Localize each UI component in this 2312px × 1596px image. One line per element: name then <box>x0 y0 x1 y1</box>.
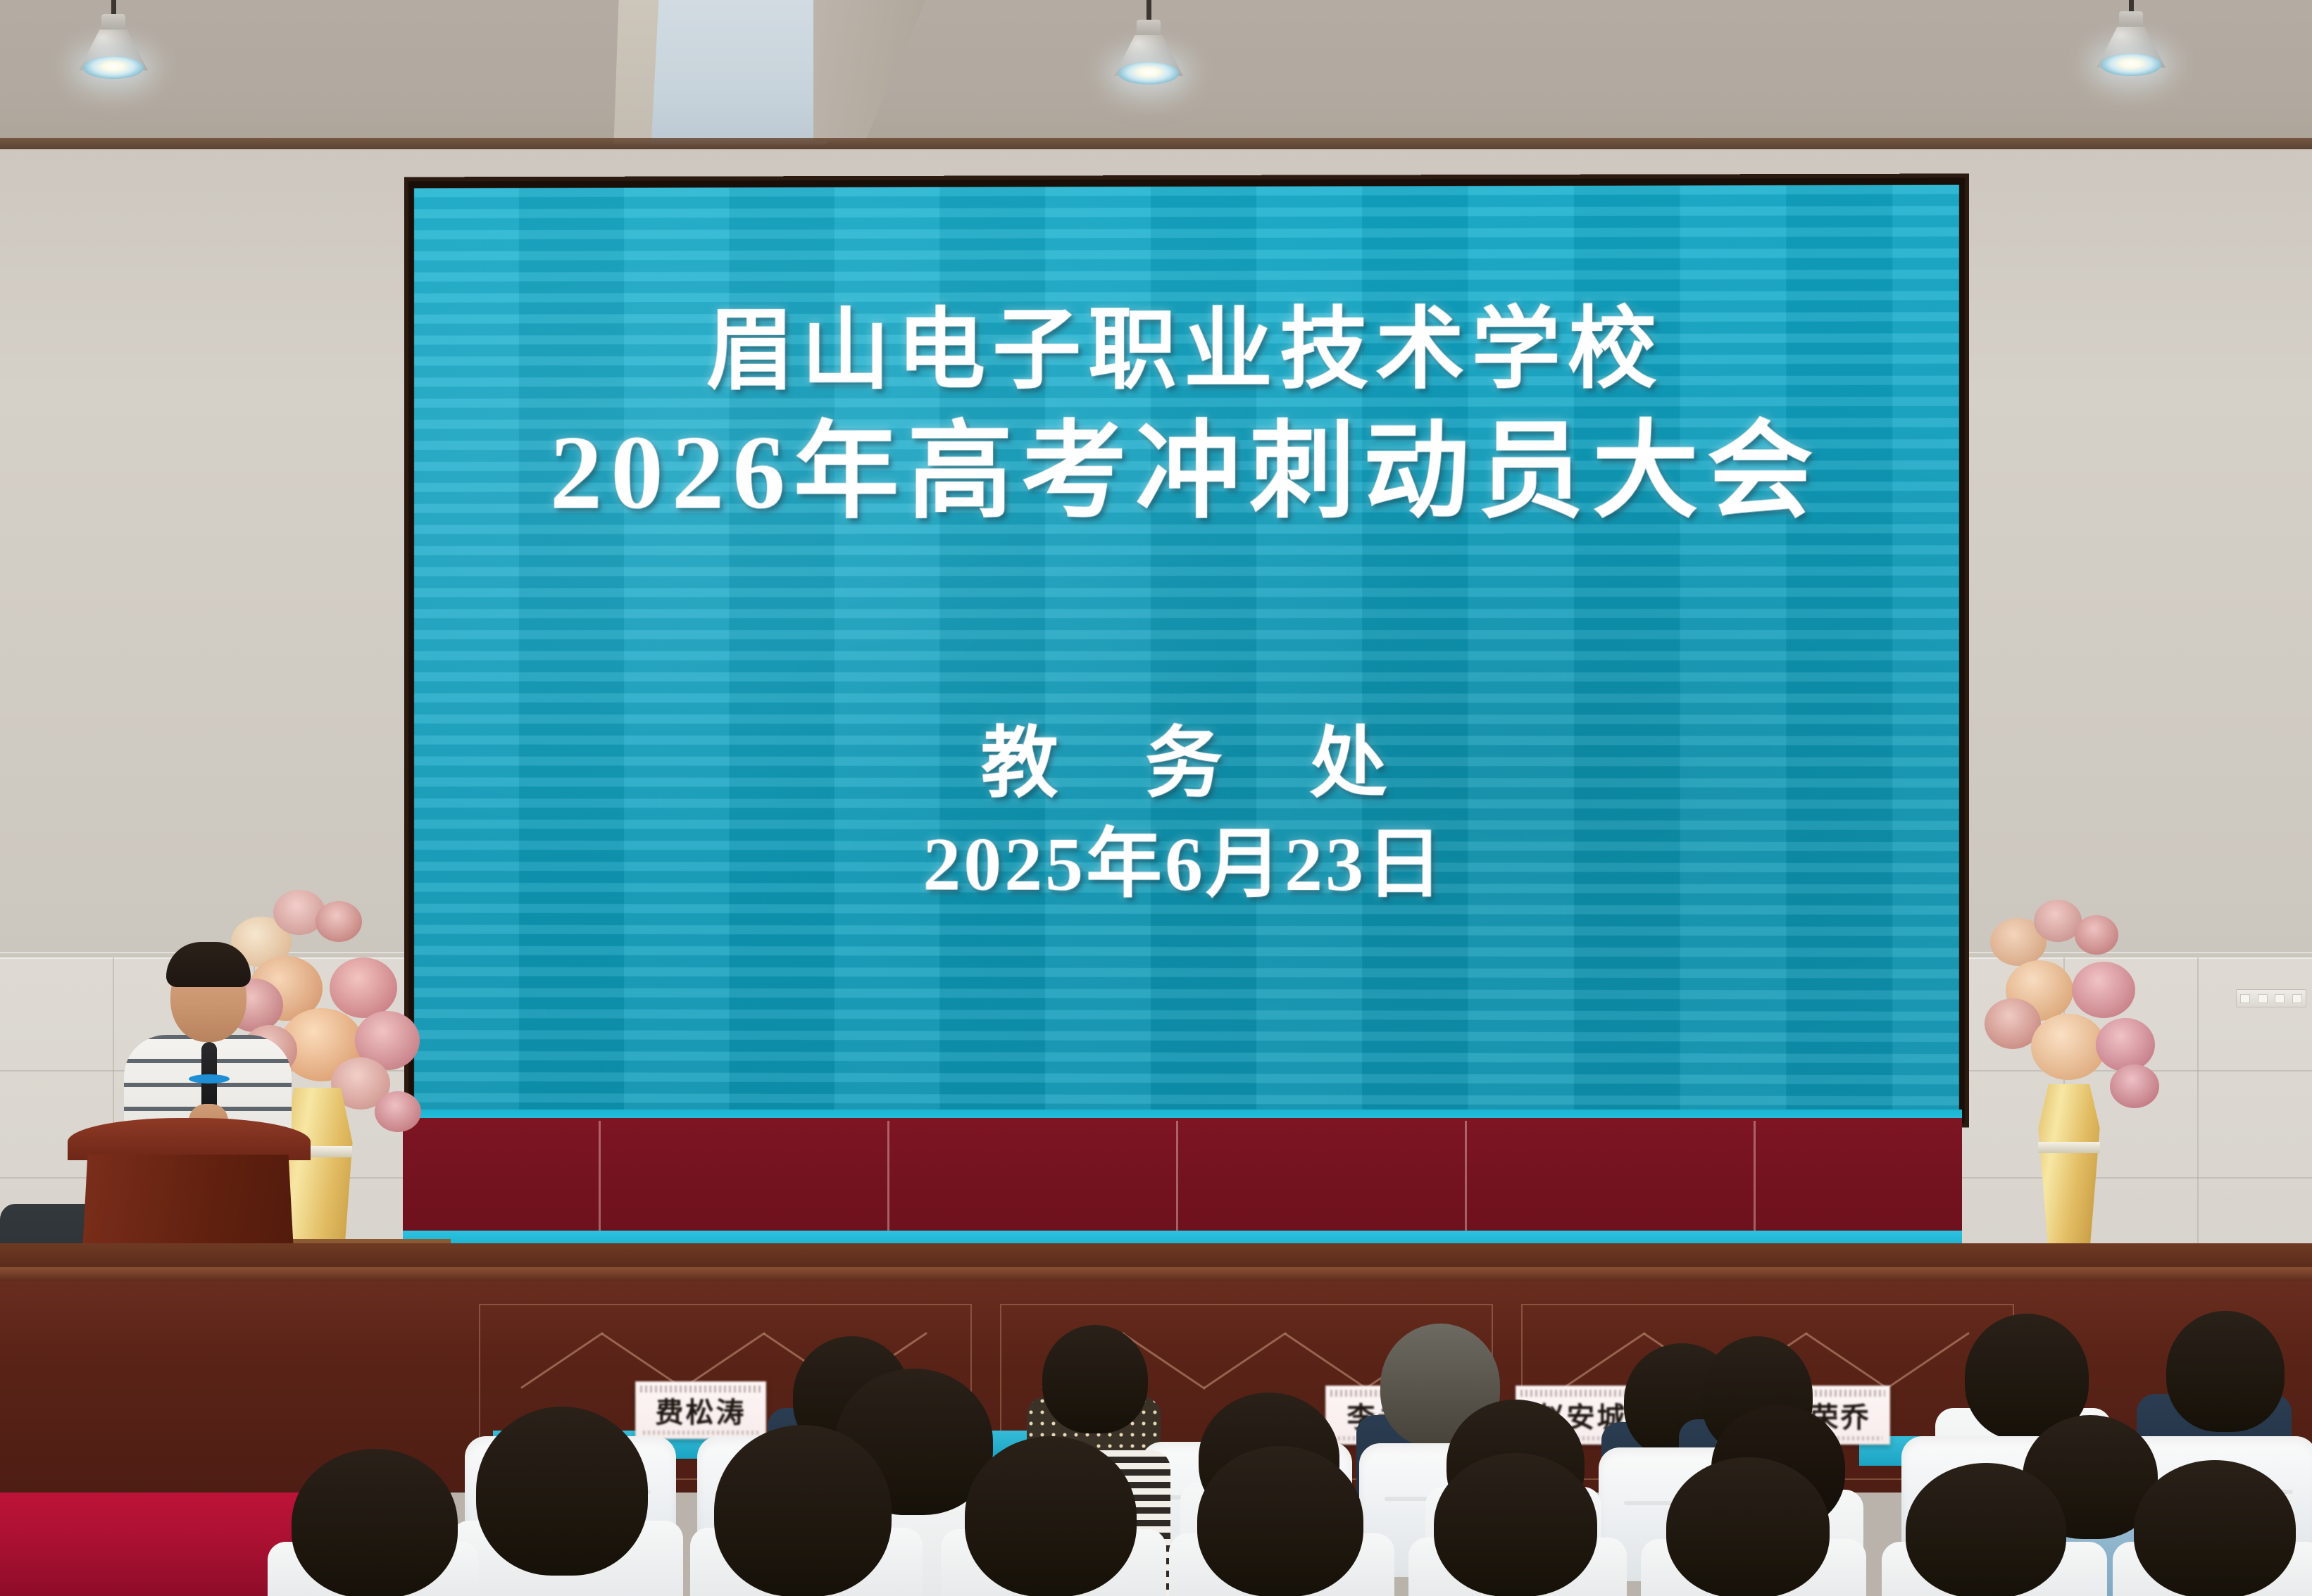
band-seam <box>1176 1121 1178 1236</box>
screen-school-name: 眉山电子职业技术学校 <box>706 302 1664 401</box>
audience-head <box>965 1436 1137 1596</box>
audience-head <box>1906 1463 2066 1596</box>
auditorium-photo: 眉山电子职业技术学校 2026年高考冲刺动员大会 教 务 处 2025年6月23… <box>0 0 2312 1596</box>
audience-head <box>1042 1325 1148 1433</box>
lamp-bulb-icon <box>83 56 144 79</box>
band-seam <box>1754 1121 1756 1236</box>
audience-head <box>2134 1460 2296 1596</box>
microphone-blue-ring <box>189 1074 230 1083</box>
nameplate-footer-line <box>643 1431 758 1435</box>
band-seam <box>1465 1121 1467 1236</box>
nameplate: 费松涛 <box>635 1381 766 1439</box>
audience-head <box>2166 1311 2285 1432</box>
audience-head <box>292 1449 458 1596</box>
vase-band <box>2038 1142 2100 1153</box>
screen-event-title: 2026年高考冲刺动员大会 <box>550 413 1822 532</box>
nameplate-name: 费松涛 <box>656 1390 746 1431</box>
band-seam <box>887 1121 889 1236</box>
audience-head <box>476 1407 648 1576</box>
lamp-bulb-icon <box>2101 54 2161 76</box>
led-screen-content: 眉山电子职业技术学校 2026年高考冲刺动员大会 教 务 处 2025年6月23… <box>414 185 1959 1118</box>
switch-key[interactable] <box>2240 994 2250 1003</box>
lamp-bulb-icon <box>1118 62 1179 84</box>
pendant-lamp-right <box>2088 0 2173 117</box>
audience-head <box>714 1425 892 1596</box>
stage-backdrop-maroon-band <box>403 1118 1962 1239</box>
light-switch-panel[interactable] <box>2236 989 2306 1007</box>
led-display-screen: 眉山电子职业技术学校 2026年高考冲刺动员大会 教 务 处 2025年6月23… <box>408 178 1965 1124</box>
stage-front-rail <box>0 1267 2312 1281</box>
screen-organizer: 教 务 处 <box>947 721 1421 806</box>
audience-head <box>1197 1446 1363 1596</box>
audience-head <box>1666 1457 1830 1596</box>
speaker-person <box>120 936 296 1141</box>
podium-top-surface <box>68 1118 311 1160</box>
pendant-lamp-left <box>70 0 155 120</box>
pendant-lamp-center <box>1106 0 1190 127</box>
tile-seam <box>2197 957 2199 1260</box>
led-screen-surface: 眉山电子职业技术学校 2026年高考冲刺动员大会 教 务 处 2025年6月23… <box>414 185 1959 1118</box>
switch-key[interactable] <box>2275 994 2285 1003</box>
switch-key[interactable] <box>2258 994 2268 1003</box>
screen-date: 2025年6月23日 <box>923 823 1445 907</box>
ceiling-soffit-white <box>651 0 835 144</box>
band-seam <box>599 1121 601 1236</box>
nameplate-header-line <box>640 1385 761 1393</box>
audience-head <box>1434 1453 1597 1596</box>
speaker-hair <box>166 942 251 987</box>
switch-key[interactable] <box>2292 994 2302 1003</box>
